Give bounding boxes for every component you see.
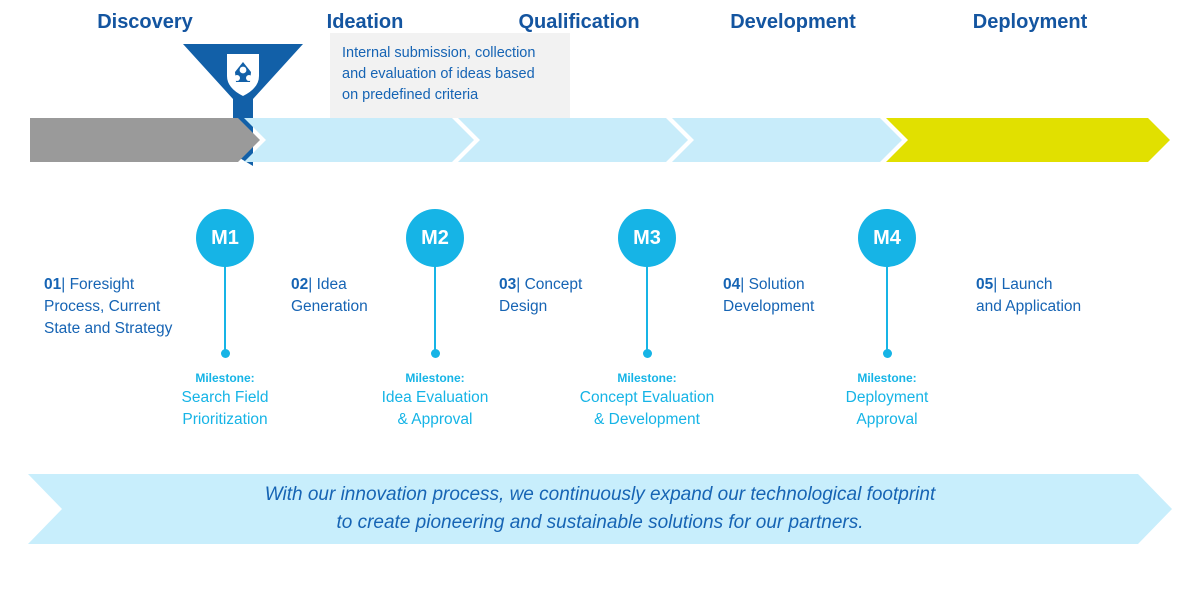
milestone-title-m1: Search Field Prioritization <box>135 387 315 431</box>
phase-02-number: 02 <box>291 276 308 293</box>
phase-04-separator: | <box>740 276 744 293</box>
stage-label-qualification[interactable]: Qualification <box>464 0 694 44</box>
milestone-circle-m4[interactable]: M4 <box>858 209 916 267</box>
callout-text: Internal submission, collection and eval… <box>342 43 558 106</box>
phase-03-number: 03 <box>499 276 516 293</box>
milestone-label-m1: Milestone: <box>135 370 315 387</box>
milestone-circle-m3[interactable]: M3 <box>618 209 676 267</box>
phase-02-separator: | <box>308 276 312 293</box>
milestone-title-m2: Idea Evaluation & Approval <box>340 387 530 431</box>
milestone-dot-m2 <box>431 349 440 358</box>
stage-shape-deployment <box>886 118 1170 162</box>
stage-label-discovery[interactable]: Discovery <box>30 0 260 44</box>
phase-05-number: 05 <box>976 276 993 293</box>
phase-01-number: 01 <box>44 276 61 293</box>
stage-shape-discovery <box>30 118 260 162</box>
stage-shape-development <box>672 118 902 162</box>
milestone-circle-m1[interactable]: M1 <box>196 209 254 267</box>
phase-01: 01| Foresight Process, Current State and… <box>44 274 234 340</box>
callout-box: Internal submission, collection and eval… <box>330 33 570 118</box>
milestone-stem-m4 <box>886 255 888 353</box>
phase-04: 04| Solution Development <box>723 274 913 318</box>
phase-04-number: 04 <box>723 276 740 293</box>
milestone-circle-m2[interactable]: M2 <box>406 209 464 267</box>
milestone-title-m3: Concept Evaluation & Development <box>540 387 754 431</box>
phase-01-separator: | <box>61 276 65 293</box>
milestone-text-m1: Milestone: Search Field Prioritization <box>135 370 315 431</box>
phase-05: 05| Launch and Application <box>976 274 1176 318</box>
stage-chevron-bar <box>30 118 1170 162</box>
milestone-dot-m4 <box>883 349 892 358</box>
milestone-text-m2: Milestone: Idea Evaluation & Approval <box>340 370 530 431</box>
stage-label-ideation[interactable]: Ideation <box>250 0 480 44</box>
stage-label-development[interactable]: Development <box>678 0 908 44</box>
milestone-title-m4: Deployment Approval <box>800 387 974 431</box>
milestone-text-m3: Milestone: Concept Evaluation & Developm… <box>540 370 754 431</box>
milestone-label-m3: Milestone: <box>540 370 754 387</box>
milestone-dot-m3 <box>643 349 652 358</box>
milestone-stem-m2 <box>434 255 436 353</box>
phase-03: 03| Concept Design <box>499 274 679 318</box>
phase-03-separator: | <box>516 276 520 293</box>
milestone-stem-m1 <box>224 255 226 353</box>
milestone-label-m2: Milestone: <box>340 370 530 387</box>
milestone-text-m4: Milestone: Deployment Approval <box>800 370 974 431</box>
milestone-label-m4: Milestone: <box>800 370 974 387</box>
milestone-stem-m3 <box>646 255 648 353</box>
phase-05-separator: | <box>993 276 997 293</box>
phase-02: 02| Idea Generation <box>291 274 471 318</box>
milestone-dot-m1 <box>221 349 230 358</box>
stage-label-deployment[interactable]: Deployment <box>900 0 1160 44</box>
banner-shape <box>28 474 1172 544</box>
stage-shape-qualification <box>458 118 688 162</box>
stage-shape-ideation <box>244 118 474 162</box>
